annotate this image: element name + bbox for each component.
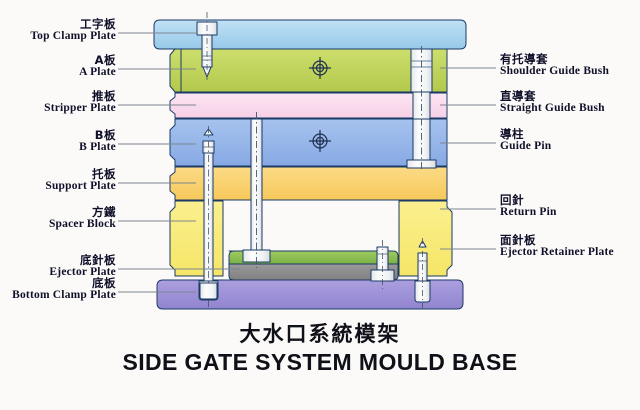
spacer-block-left — [170, 201, 223, 276]
label-stripper-plate-en: Stripper Plate — [44, 103, 116, 115]
label-a-plate: A板 A Plate — [79, 55, 116, 79]
label-top-clamp-plate: 工字板 Top Clamp Plate — [30, 19, 116, 43]
title-chinese: 大水口系統模架 — [0, 318, 640, 348]
bottom-left-screw-head — [200, 283, 217, 299]
label-b-plate: B板 B Plate — [79, 130, 116, 154]
label-stripper-plate: 推板 Stripper Plate — [44, 91, 116, 115]
label-support-plate-en: Support Plate — [45, 181, 116, 193]
label-straight-guide-bush: 直導套 Straight Guide Bush — [500, 91, 605, 115]
label-top-clamp-plate-en: Top Clamp Plate — [30, 31, 116, 43]
label-ejector-retainer-plate: 面針板 Ejector Retainer Plate — [500, 235, 614, 259]
mould-base-diagram: 工字板 Top Clamp Plate A板 A Plate 推板 Stripp… — [0, 0, 640, 410]
diagram-title: 大水口系統模架 SIDE GATE SYSTEM MOULD BASE — [0, 318, 640, 376]
label-straight-guide-bush-en: Straight Guide Bush — [500, 103, 605, 115]
label-bottom-clamp-plate-en: Bottom Clamp Plate — [12, 290, 116, 302]
label-support-plate: 托板 Support Plate — [45, 169, 116, 193]
label-spacer-block: 方鐵 Spacer Block — [49, 207, 116, 231]
label-return-pin-en: Return Pin — [500, 207, 557, 219]
label-return-pin: 回針 Return Pin — [500, 195, 557, 219]
label-spacer-block-en: Spacer Block — [49, 219, 116, 231]
label-shoulder-guide-bush-en: Shoulder Guide Bush — [500, 66, 609, 78]
label-guide-pin: 導柱 Guide Pin — [500, 129, 551, 153]
label-shoulder-guide-bush: 有托導套 Shoulder Guide Bush — [500, 54, 609, 78]
label-a-plate-en: A Plate — [79, 67, 116, 79]
title-english: SIDE GATE SYSTEM MOULD BASE — [0, 349, 640, 376]
label-bottom-clamp-plate: 底板 Bottom Clamp Plate — [12, 278, 116, 302]
label-guide-pin-en: Guide Pin — [500, 141, 551, 153]
plate-stripper — [170, 93, 447, 118]
label-b-plate-en: B Plate — [79, 142, 116, 154]
plate-a-left-edge — [170, 49, 181, 92]
label-ejector-retainer-plate-en: Ejector Retainer Plate — [500, 247, 614, 259]
